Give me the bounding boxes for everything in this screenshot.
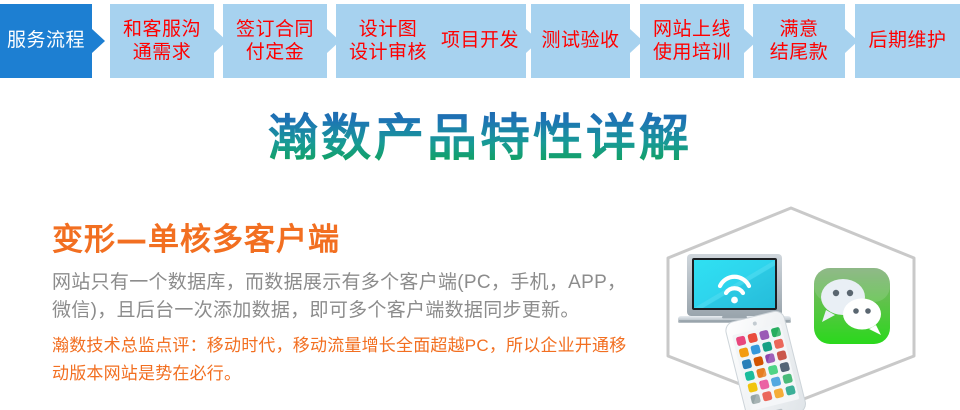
page-title: 瀚数产品特性详解 xyxy=(0,98,960,170)
process-step-label: 服务流程 xyxy=(3,29,89,52)
process-step-4[interactable]: 设计图 设计审核 xyxy=(336,4,440,78)
smartphone-apps-icon xyxy=(724,309,807,410)
process-step-3[interactable]: 签订合同 付定金 xyxy=(223,4,327,78)
expert-comment-text: 瀚数技术总监点评：移动时代，移动流量增长全面超越PC，所以企业开通移动版本网站是… xyxy=(52,332,632,387)
process-step-2[interactable]: 和客服沟 通需求 xyxy=(110,4,214,78)
process-step-label: 和客服沟 通需求 xyxy=(119,18,205,64)
process-step-arrow-icon xyxy=(92,29,105,53)
process-step-7[interactable]: 网站上线 使用培训 xyxy=(640,4,744,78)
process-step-label: 项目开发 xyxy=(437,29,523,52)
process-step-9[interactable]: 后期维护 xyxy=(855,4,960,78)
process-step-label: 网站上线 使用培训 xyxy=(649,18,735,64)
process-step-label: 测试验收 xyxy=(537,29,623,52)
process-step-5[interactable]: 项目开发 xyxy=(434,4,526,78)
section-body-text: 网站只有一个数据库，而数据展示有多个客户端(PC，手机，APP，微信)，且后台一… xyxy=(52,269,632,325)
section-heading: 变形—单核多客户端 xyxy=(52,214,632,259)
process-step-label: 签订合同 付定金 xyxy=(232,18,318,64)
process-flow-bar: 服务流程和客服沟 通需求签订合同 付定金设计图 设计审核项目开发测试验收网站上线… xyxy=(0,0,960,86)
process-step-1[interactable]: 服务流程 xyxy=(0,4,92,78)
feature-section: 变形—单核多客户端 网站只有一个数据库，而数据展示有多个客户端(PC，手机，AP… xyxy=(52,214,632,325)
process-step-8[interactable]: 满意 结尾款 xyxy=(753,4,845,78)
process-step-6[interactable]: 测试验收 xyxy=(531,4,630,78)
process-step-label: 设计图 设计审核 xyxy=(345,18,431,64)
process-step-label: 后期维护 xyxy=(864,29,950,52)
multi-client-illustration xyxy=(638,196,960,410)
process-step-label: 满意 结尾款 xyxy=(766,18,833,64)
wechat-icon xyxy=(814,268,890,344)
